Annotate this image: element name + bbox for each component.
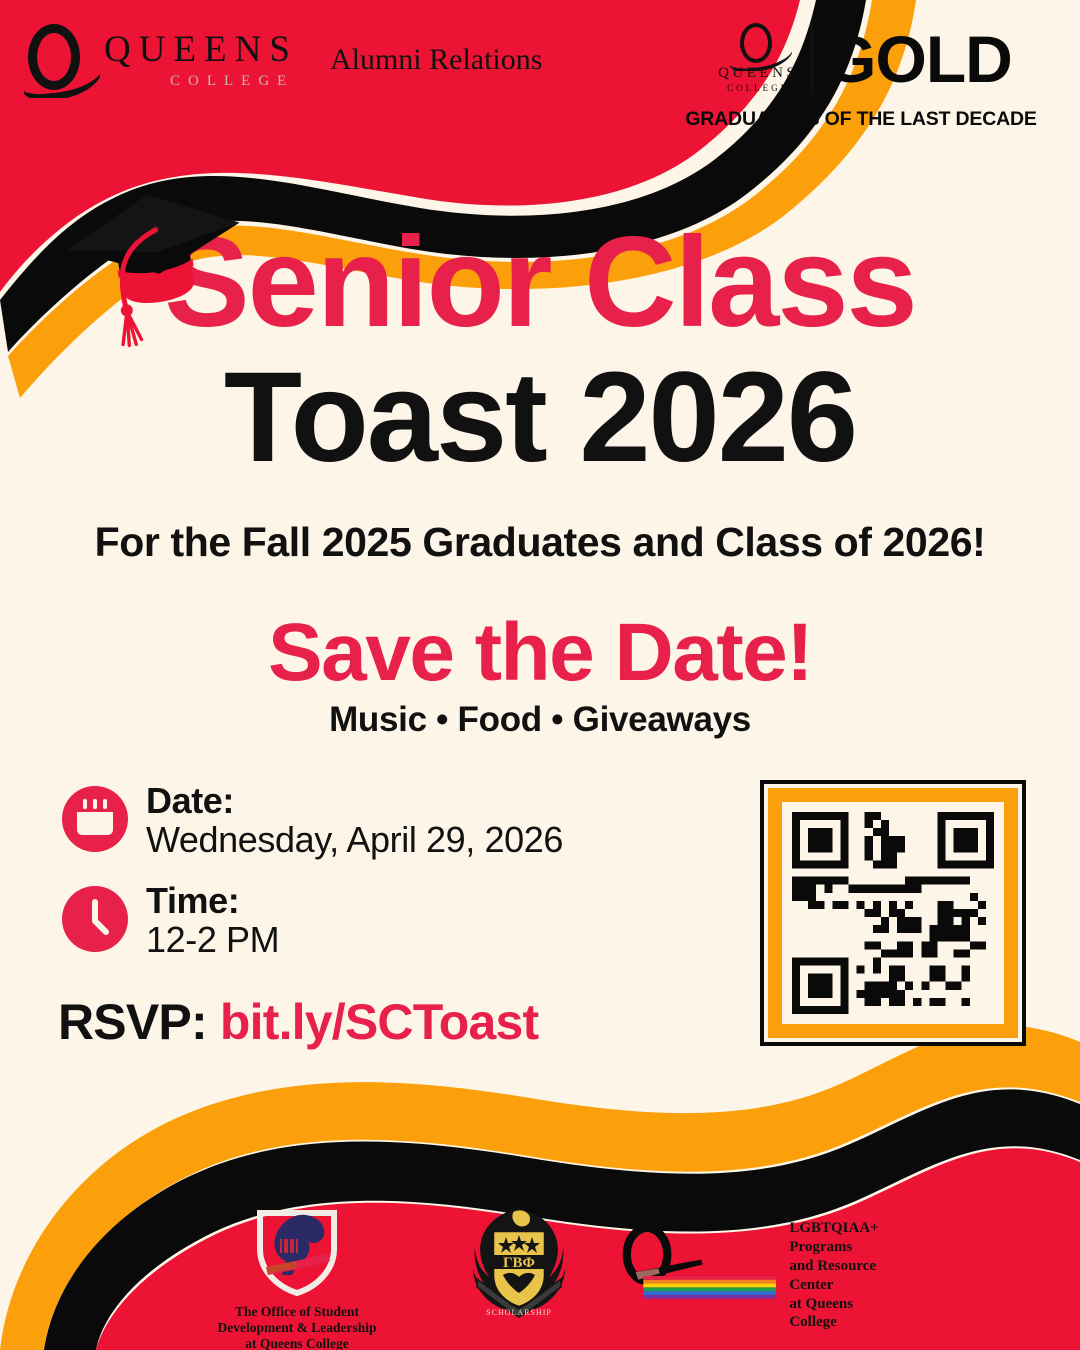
detail-row-date: Date: Wednesday, April 29, 2026 [62,782,682,860]
knight-shield-icon [242,1205,352,1297]
clock-icon [62,886,128,952]
qr-code-frame[interactable] [760,780,1026,1046]
date-value: Wednesday, April 29, 2026 [146,820,563,860]
partner-osdl-caption: The Office of Student Development & Lead… [192,1304,402,1350]
rsvp-line[interactable]: RSVP: bit.ly/SCToast [58,993,538,1051]
features-list: Music • Food • Giveaways [0,700,1080,740]
rainbow-bars [643,1276,776,1299]
gamma-beta-phi-crest-icon: ΓΒΦ SCHOLARSHIP [463,1205,575,1329]
detail-row-time: Time: 12-2 PM [62,882,682,960]
partner-gamma-beta-phi: ΓΒΦ SCHOLARSHIP [454,1205,584,1334]
queens-q-rainbow-icon [618,1205,787,1323]
event-details: Date: Wednesday, April 29, 2026 Time: 12… [62,782,682,982]
partner-lgbt-caption: LGBTQIAA+ Programs and Resource Center a… [789,1219,888,1332]
graduation-cap-icon [62,178,252,348]
osdl-line3: at Queens College [192,1336,402,1350]
time-value: 12-2 PM [146,920,279,960]
osdl-line2: Development & Leadership [192,1320,402,1336]
gold-college-subword: COLLEGE [710,83,806,93]
gold-queens-wordmark: QUEENS [710,65,806,82]
lgbt-line2: and Resource Center [789,1257,888,1295]
gold-brand-wordmark: GOLD [825,26,1012,92]
partner-lgbtqiaa: LGBTQIAA+ Programs and Resource Center a… [618,1205,888,1332]
poster-canvas: QUEENS COLLEGE Alumni Relations QUEENS C… [0,0,1080,1350]
audience-subtitle: For the Fall 2025 Graduates and Class of… [0,519,1080,566]
page-title-line2: Toast 2026 [0,351,1080,485]
lgbt-line3: at Queens College [789,1295,888,1333]
queens-wordmark: QUEENS [104,31,298,68]
partner-logos: The Office of Student Development & Lead… [0,1205,1080,1350]
lgbt-line1: LGBTQIAA+ Programs [789,1219,888,1257]
gold-tagline: GRADUATUES OF THE LAST DECADE [676,108,1046,131]
queens-q-icon: QUEENS COLLEGE [710,21,806,97]
gold-logo: QUEENS COLLEGE GOLD GRADUATUES OF THE LA… [676,18,1046,131]
time-label: Time: [146,882,279,920]
save-the-date-heading: Save the Date! [0,612,1080,694]
qr-code-icon[interactable] [792,812,994,1014]
college-subword: COLLEGE [170,74,298,89]
calendar-icon [62,786,128,852]
rsvp-link[interactable]: bit.ly/SCToast [220,994,538,1050]
partner-osdl: The Office of Student Development & Lead… [192,1205,402,1350]
queens-q-icon [22,20,100,100]
gbp-motto: SCHOLARSHIP [486,1308,552,1317]
gbp-letters: ΓΒΦ [503,1255,535,1271]
osdl-line1: The Office of Student [192,1304,402,1320]
queens-college-alumni-logo: QUEENS COLLEGE Alumni Relations [22,20,522,100]
alumni-relations-label: Alumni Relations [330,43,543,77]
gold-logo-divider [810,23,813,95]
rsvp-label: RSVP: [58,994,207,1050]
date-label: Date: [146,782,563,820]
